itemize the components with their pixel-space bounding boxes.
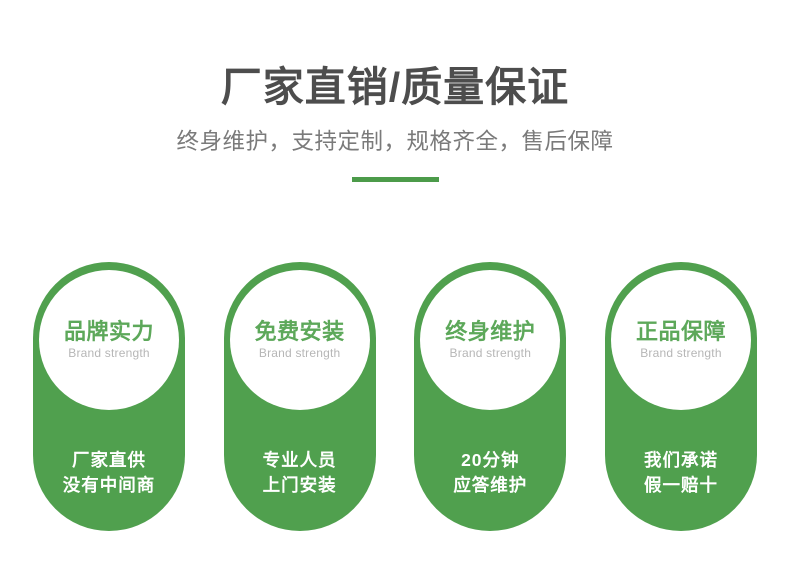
card-subtitle: Brand strength	[68, 347, 150, 360]
feature-card-brand-strength[interactable]: 品牌实力 Brand strength 厂家直供 没有中间商	[33, 262, 185, 531]
card-circle-badge: 品牌实力 Brand strength	[39, 270, 179, 410]
card-circle-badge: 正品保障 Brand strength	[611, 270, 751, 410]
card-footer-line-1: 专业人员	[224, 448, 376, 473]
title-divider	[352, 177, 439, 182]
card-circle-badge: 终身维护 Brand strength	[420, 270, 560, 410]
card-footer-line-1: 我们承诺	[605, 448, 757, 473]
card-footer-line-2: 没有中间商	[33, 473, 185, 498]
page-subtitle: 终身维护，支持定制，规格齐全，售后保障	[0, 112, 790, 156]
feature-card-list: 品牌实力 Brand strength 厂家直供 没有中间商 免费安装 Bran…	[33, 262, 757, 531]
feature-card-free-installation[interactable]: 免费安装 Brand strength 专业人员 上门安装	[224, 262, 376, 531]
card-title: 终身维护	[445, 320, 535, 347]
feature-card-lifetime-maintenance[interactable]: 终身维护 Brand strength 20分钟 应答维护	[414, 262, 566, 531]
card-subtitle: Brand strength	[450, 347, 532, 360]
card-title: 正品保障	[636, 320, 726, 347]
card-footer: 专业人员 上门安装	[224, 448, 376, 499]
card-footer-line-1: 厂家直供	[33, 448, 185, 473]
card-footer: 20分钟 应答维护	[414, 448, 566, 499]
card-footer-line-2: 应答维护	[414, 473, 566, 498]
page-title: 厂家直销/质量保证	[0, 0, 790, 112]
card-footer: 厂家直供 没有中间商	[33, 448, 185, 499]
card-footer-line-2: 假一赔十	[605, 473, 757, 498]
card-subtitle: Brand strength	[640, 347, 722, 360]
feature-card-authentic-guarantee[interactable]: 正品保障 Brand strength 我们承诺 假一赔十	[605, 262, 757, 531]
card-subtitle: Brand strength	[259, 347, 341, 360]
card-footer-line-2: 上门安装	[224, 473, 376, 498]
card-title: 免费安装	[255, 320, 345, 347]
card-footer-line-1: 20分钟	[414, 448, 566, 473]
promo-banner: 厂家直销/质量保证 终身维护，支持定制，规格齐全，售后保障 品牌实力 Brand…	[0, 0, 790, 587]
card-footer: 我们承诺 假一赔十	[605, 448, 757, 499]
header-block: 厂家直销/质量保证 终身维护，支持定制，规格齐全，售后保障	[0, 0, 790, 156]
card-title: 品牌实力	[64, 320, 154, 347]
card-circle-badge: 免费安装 Brand strength	[230, 270, 370, 410]
